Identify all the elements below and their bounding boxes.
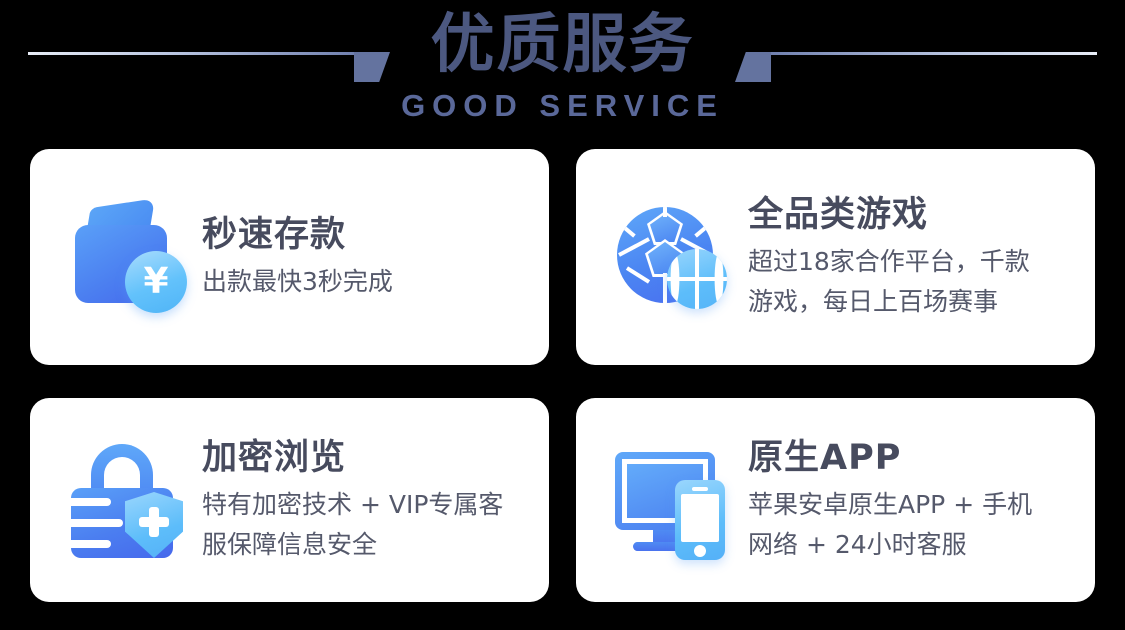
basketball-icon <box>667 249 727 309</box>
page-header: 优质服务 GOOD SERVICE <box>0 0 1125 140</box>
soccer-seam <box>626 266 650 283</box>
plus-icon <box>149 507 159 537</box>
soccer-basketball-icon <box>609 193 737 321</box>
phone-icon <box>675 480 725 560</box>
card-icon-slot: ¥ <box>52 182 202 332</box>
wallet-yen-icon: ¥ <box>63 193 191 321</box>
header-titles: 优质服务 GOOD SERVICE <box>0 0 1125 126</box>
card-description-line: 超过18家合作平台，千款 <box>748 242 1079 282</box>
card-description-line: 特有加密技术 + VIP专属客 <box>202 485 533 525</box>
card-icon-slot <box>598 425 748 575</box>
soccer-seam <box>663 207 667 217</box>
card-title: 加密浏览 <box>202 435 533 481</box>
monitor-phone-icon <box>609 436 737 564</box>
card-text-block: 全品类游戏 超过18家合作平台，千款 游戏，每日上百场赛事 <box>748 192 1095 322</box>
card-description-line: 出款最快3秒完成 <box>202 262 533 302</box>
card-icon-slot <box>52 425 202 575</box>
basketball-seam <box>715 253 724 305</box>
card-icon-slot <box>598 182 748 332</box>
phone-home-button <box>694 545 706 557</box>
card-description-line: 服保障信息安全 <box>202 525 533 565</box>
card-description-line: 苹果安卓原生APP + 手机 <box>748 485 1079 525</box>
card-description-line: 游戏，每日上百场赛事 <box>748 282 1079 322</box>
lock-slot <box>71 519 123 527</box>
card-description: 苹果安卓原生APP + 手机 网络 + 24小时客服 <box>748 485 1079 565</box>
card-text-block: 原生APP 苹果安卓原生APP + 手机 网络 + 24小时客服 <box>748 435 1095 565</box>
card-description-line: 网络 + 24小时客服 <box>748 525 1079 565</box>
feature-card-native-app[interactable]: 原生APP 苹果安卓原生APP + 手机 网络 + 24小时客服 <box>576 398 1095 602</box>
phone-speaker <box>692 487 708 491</box>
feature-card-deposit[interactable]: ¥ 秒速存款 出款最快3秒完成 <box>30 149 549 365</box>
phone-screen <box>681 494 719 542</box>
card-description: 超过18家合作平台，千款 游戏，每日上百场赛事 <box>748 242 1079 322</box>
soccer-seam <box>694 220 713 237</box>
lock-slot <box>71 540 111 548</box>
card-title: 全品类游戏 <box>748 192 1079 238</box>
lock-shield-icon <box>63 436 191 564</box>
card-title: 原生APP <box>748 435 1079 481</box>
page-title: 优质服务 <box>0 0 1125 90</box>
feature-card-encryption[interactable]: 加密浏览 特有加密技术 + VIP专属客 服保障信息安全 <box>30 398 549 602</box>
yen-coin-icon: ¥ <box>125 251 187 313</box>
card-title: 秒速存款 <box>202 212 533 258</box>
basketball-seam <box>671 253 680 305</box>
lock-slot <box>71 498 111 506</box>
page-subtitle: GOOD SERVICE <box>0 86 1125 126</box>
feature-card-games[interactable]: 全品类游戏 超过18家合作平台，千款 游戏，每日上百场赛事 <box>576 149 1095 365</box>
soccer-seam <box>617 220 636 237</box>
feature-card-grid: ¥ 秒速存款 出款最快3秒完成 <box>30 149 1095 602</box>
yen-symbol: ¥ <box>143 264 168 300</box>
card-description: 特有加密技术 + VIP专属客 服保障信息安全 <box>202 485 533 565</box>
card-description: 出款最快3秒完成 <box>202 262 533 302</box>
card-text-block: 秒速存款 出款最快3秒完成 <box>202 212 549 302</box>
card-text-block: 加密浏览 特有加密技术 + VIP专属客 服保障信息安全 <box>202 435 549 565</box>
soccer-panel <box>650 214 680 242</box>
